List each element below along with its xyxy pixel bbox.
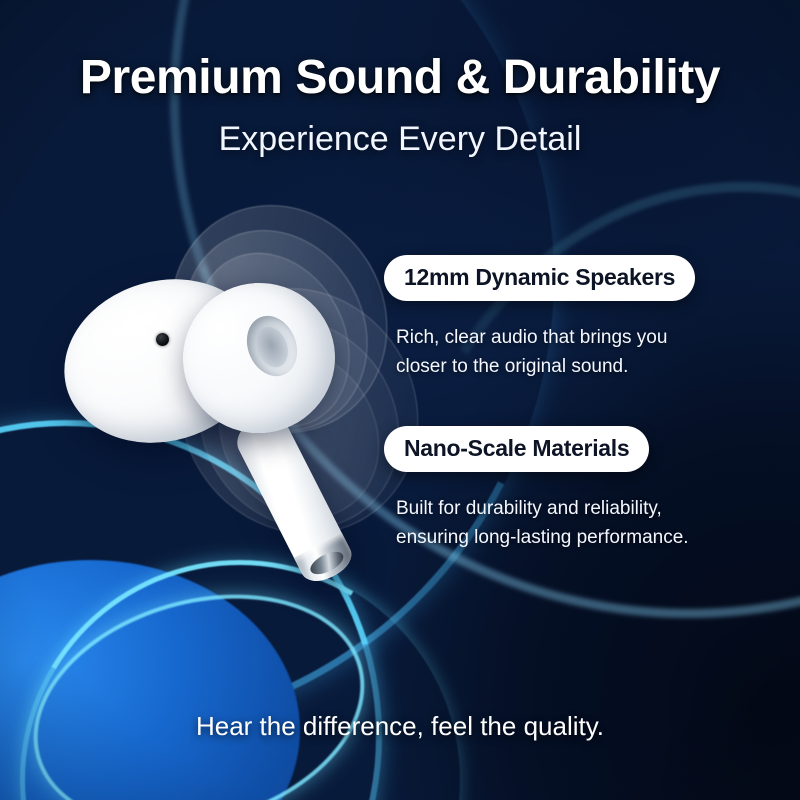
feature-description: Rich, clear audio that brings you closer… <box>384 323 714 382</box>
chrome-contact-core <box>307 547 347 578</box>
product-feature-poster: Premium Sound & Durability Experience Ev… <box>0 0 800 800</box>
feature-description-line: Rich, clear audio that brings you <box>396 323 714 352</box>
feature-item: 12mm Dynamic Speakers Rich, clear audio … <box>384 255 714 382</box>
feature-title-badge: 12mm Dynamic Speakers <box>384 255 695 301</box>
microphone-port-icon <box>156 333 169 346</box>
feature-description-line: Built for durability and reliability, <box>396 494 714 523</box>
feature-description-line: closer to the original sound. <box>396 352 714 381</box>
feature-description-line: ensuring long-lasting performance. <box>396 523 714 552</box>
page-title: Premium Sound & Durability <box>0 50 800 105</box>
chrome-charging-contact <box>294 533 358 588</box>
product-image <box>55 185 395 635</box>
feature-title-badge: Nano-Scale Materials <box>384 426 649 472</box>
feature-list: 12mm Dynamic Speakers Rich, clear audio … <box>384 255 714 597</box>
feature-item: Nano-Scale Materials Built for durabilit… <box>384 426 714 553</box>
page-subtitle: Experience Every Detail <box>0 120 800 159</box>
feature-description: Built for durability and reliability, en… <box>384 494 714 553</box>
footer-tagline: Hear the difference, feel the quality. <box>0 711 800 742</box>
